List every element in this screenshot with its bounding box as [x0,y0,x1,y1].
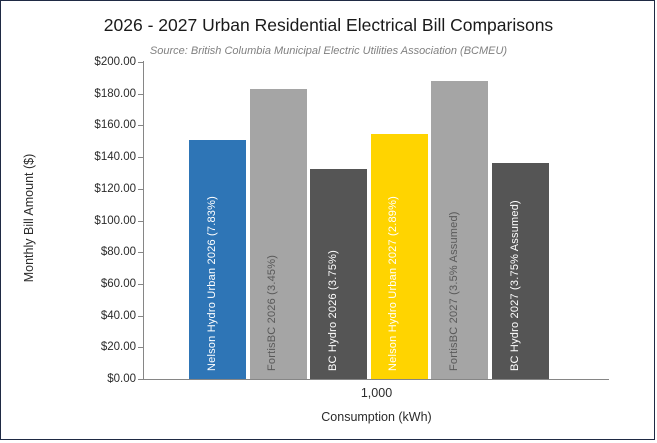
bar[interactable]: FortisBC 2027 (3.5% Assumed) [431,81,488,379]
bar-label: BC Hydro 2026 (3.75%) [327,250,339,371]
y-axis-tick-labels: $200.00$180.00$160.00$140.00$120.00$100.… [34,1,136,443]
bar[interactable]: Nelson Hydro Urban 2027 (2.89%) [371,134,428,379]
y-axis-tick-label: $200.00 [44,56,136,68]
y-axis-tick-label: $120.00 [44,183,136,195]
bar-label: FortisBC 2026 (3.45%) [266,255,278,371]
x-axis-line [143,379,609,380]
y-axis-tick-label: $140.00 [44,151,136,163]
y-axis-tick-label: $20.00 [44,341,136,353]
bar[interactable]: FortisBC 2026 (3.45%) [250,89,307,379]
y-axis-tick-label: $180.00 [44,88,136,100]
y-axis-title-wrapper: Monthly Bill Amount ($) [1,61,27,381]
bar-label: FortisBC 2027 (3.5% Assumed) [448,211,460,371]
y-axis-tick-label: $60.00 [44,278,136,290]
y-axis-tick-label: $40.00 [44,310,136,322]
y-axis-tick-label: $160.00 [44,119,136,131]
y-axis-tick-label: $0.00 [44,373,136,385]
bar[interactable]: BC Hydro 2027 (3.75% Assumed) [492,163,549,379]
x-axis-category-label: 1,000 [144,386,609,400]
bar[interactable]: BC Hydro 2026 (3.75%) [310,169,367,379]
bar-label: Nelson Hydro Urban 2026 (7.83%) [206,196,218,371]
bar-label: BC Hydro 2027 (3.75% Assumed) [509,200,521,371]
bar[interactable]: Nelson Hydro Urban 2026 (7.83%) [189,140,246,379]
y-axis-tick-label: $100.00 [44,215,136,227]
x-axis-title: Consumption (kWh) [144,410,609,424]
bar-label: Nelson Hydro Urban 2027 (2.89%) [387,196,399,371]
y-axis-tick-label: $80.00 [44,246,136,258]
plot-area: Nelson Hydro Urban 2026 (7.83%)FortisBC … [144,62,609,379]
chart-frame: 2026 - 2027 Urban Residential Electrical… [0,0,655,440]
